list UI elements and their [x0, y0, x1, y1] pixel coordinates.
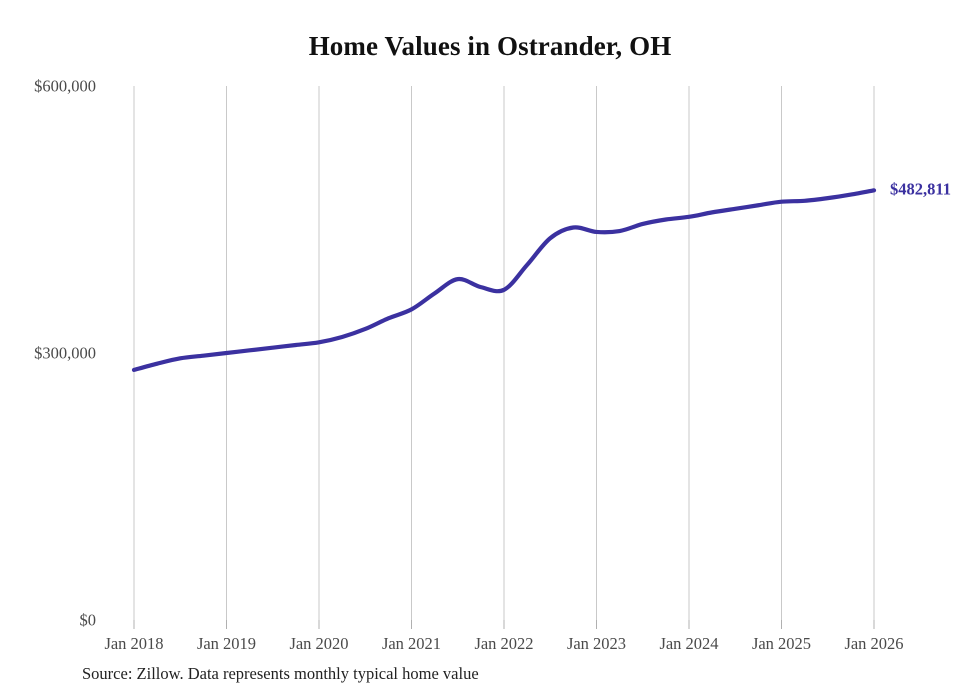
x-tickmarks [134, 620, 874, 629]
x-axis-tick-label: Jan 2023 [567, 634, 626, 653]
x-axis-tick-label: Jan 2024 [659, 634, 718, 653]
x-axis-tick-label: Jan 2025 [752, 634, 811, 653]
y-axis-labels: $0$300,000$600,000 [34, 77, 96, 630]
y-axis-tick-label: $300,000 [34, 344, 96, 363]
x-axis-tick-label: Jan 2022 [474, 634, 533, 653]
x-axis-tick-label: Jan 2019 [197, 634, 256, 653]
gridlines [134, 86, 874, 620]
x-axis-tick-label: Jan 2020 [289, 634, 348, 653]
x-axis-tick-label: Jan 2026 [844, 634, 903, 653]
y-axis-tick-label: $600,000 [34, 77, 96, 96]
source-caption: Source: Zillow. Data represents monthly … [82, 664, 479, 684]
y-axis-tick-label: $0 [80, 611, 97, 630]
x-axis-labels: Jan 2018Jan 2019Jan 2020Jan 2021Jan 2022… [104, 634, 903, 653]
x-axis-tick-label: Jan 2018 [104, 634, 163, 653]
end-value-label: $482,811 [890, 180, 951, 199]
home-values-line-chart: Home Values in Ostrander, OH Jan 2018Jan… [0, 0, 980, 699]
end-value-annotation: $482,811 [890, 180, 951, 199]
x-axis-tick-label: Jan 2021 [382, 634, 441, 653]
chart-plot-area: Jan 2018Jan 2019Jan 2020Jan 2021Jan 2022… [0, 0, 980, 699]
